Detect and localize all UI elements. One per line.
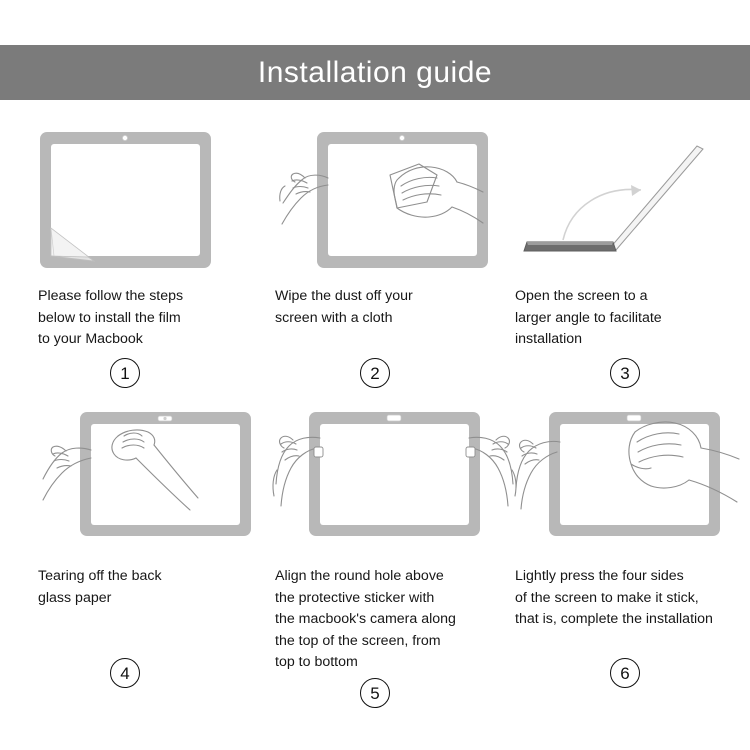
step-number-badge: 6 bbox=[610, 658, 640, 688]
laptop-opening-screen-side-view-icon bbox=[515, 130, 725, 270]
step-number-badge: 3 bbox=[610, 358, 640, 388]
step-5-number-row: 5 bbox=[250, 678, 500, 708]
step-6: Lightly press the four sides of the scre… bbox=[500, 410, 750, 690]
step-2: Wipe the dust off your screen with a clo… bbox=[250, 130, 500, 410]
steps-grid: Please follow the steps below to install… bbox=[0, 130, 750, 750]
step-5: Align the round hole above the protectiv… bbox=[250, 410, 500, 690]
step-3-number-row: 3 bbox=[500, 358, 750, 388]
step-2-caption: Wipe the dust off your screen with a clo… bbox=[275, 286, 488, 329]
step-number-badge: 4 bbox=[110, 658, 140, 688]
screen-with-peeling-film-corner-icon bbox=[38, 130, 213, 270]
step-2-number-row: 2 bbox=[250, 358, 500, 388]
step-1: Please follow the steps below to install… bbox=[0, 130, 250, 410]
two-hands-aligning-film-icon bbox=[275, 410, 510, 540]
step-5-illustration bbox=[275, 410, 488, 560]
step-4: Tearing off the back glass paper 4 bbox=[0, 410, 250, 690]
step-number-badge: 1 bbox=[110, 358, 140, 388]
step-5-caption: Align the round hole above the protectiv… bbox=[275, 566, 488, 674]
step-1-caption: Please follow the steps below to install… bbox=[38, 286, 238, 351]
step-3: Open the screen to a larger angle to fac… bbox=[500, 130, 750, 410]
step-6-illustration bbox=[515, 410, 738, 560]
page-title: Installation guide bbox=[258, 58, 492, 88]
step-2-illustration bbox=[275, 130, 488, 280]
step-6-caption: Lightly press the four sides of the scre… bbox=[515, 566, 738, 631]
step-number-badge: 5 bbox=[360, 678, 390, 708]
step-6-number-row: 6 bbox=[500, 658, 750, 688]
hand-wiping-screen-with-cloth-icon bbox=[275, 130, 490, 270]
two-hands-tearing-back-paper-icon bbox=[38, 410, 253, 540]
step-number-badge: 2 bbox=[360, 358, 390, 388]
step-4-number-row: 4 bbox=[0, 658, 250, 688]
step-1-number-row: 1 bbox=[0, 358, 250, 388]
step-3-caption: Open the screen to a larger angle to fac… bbox=[515, 286, 738, 351]
step-4-caption: Tearing off the back glass paper bbox=[38, 566, 238, 609]
step-1-illustration bbox=[38, 130, 238, 280]
installation-guide-banner: Installation guide bbox=[0, 45, 750, 100]
step-4-illustration bbox=[38, 410, 238, 560]
flat-hand-pressing-screen-icon bbox=[515, 410, 750, 540]
step-3-illustration bbox=[515, 130, 738, 280]
